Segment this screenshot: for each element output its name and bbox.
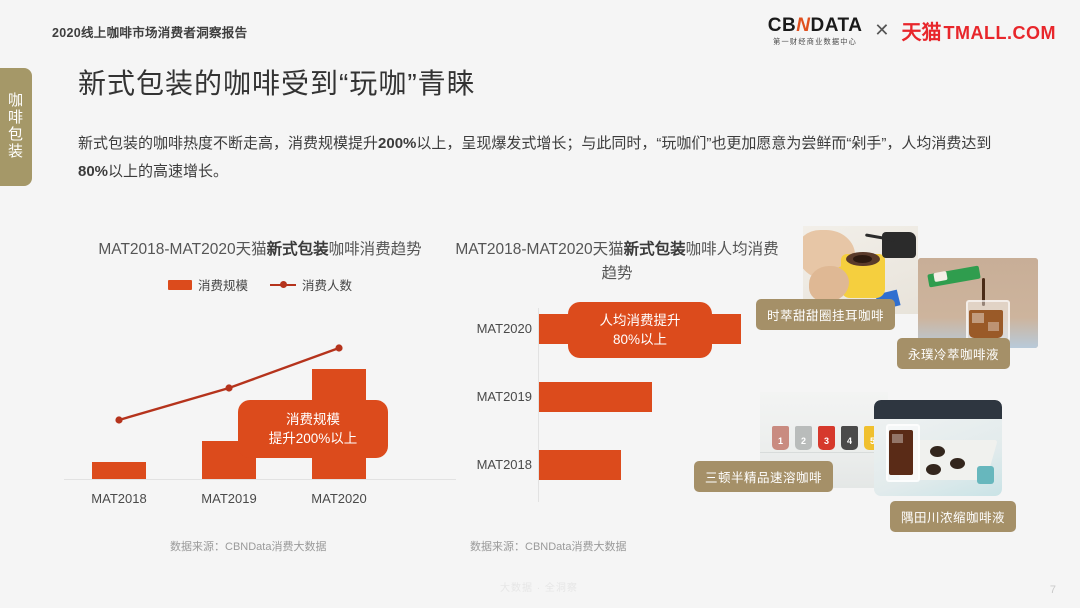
product-label-santonban: 三顿半精品速溶咖啡: [694, 461, 833, 492]
body-highlight-80: 80%: [78, 163, 108, 180]
cup-2: 2: [795, 426, 812, 450]
y-tick-mat2019: MAT2019: [452, 389, 532, 404]
chart-left-title: MAT2018-MAT2020天猫新式包装咖啡消费趋势: [60, 238, 460, 262]
product-label-sumidagawa: 隅田川浓缩咖啡液: [890, 501, 1016, 532]
callout-per-capita: 人均消费提升 80%以上: [568, 302, 712, 358]
photo4-teal-object: [977, 466, 994, 484]
callout-right-line1: 人均消费提升: [600, 311, 681, 330]
footer-watermark: 大数据 · 全洞察: [500, 579, 578, 594]
chart-consumption-scale: MAT2018-MAT2020天猫新式包装咖啡消费趋势 消费规模 消费人数: [60, 238, 460, 528]
chart-left-source: 数据来源：CBNData消费大数据: [170, 538, 326, 554]
body-text-part3: 以上的高速增长。: [108, 163, 228, 180]
legend-line-swatch-icon: [270, 280, 296, 290]
photo4-dark-band: [874, 400, 1002, 419]
photo1-brew-liquid: [853, 255, 872, 263]
product-photo-cold-brew-stick: [918, 258, 1038, 348]
chart-left-legend: 消费规模 消费人数: [60, 275, 460, 294]
photo2-ice-cube-2: [988, 322, 999, 331]
body-highlight-200: 200%: [378, 135, 416, 152]
photo4-capsule-1: [930, 446, 945, 457]
product-label-yongpu: 永璞冷萃咖啡液: [897, 338, 1010, 369]
legend-line-label: 消费人数: [302, 275, 352, 294]
product-label-shicui: 时萃甜甜圈挂耳咖啡: [756, 299, 895, 330]
cup-3: 3: [818, 426, 835, 450]
photo4-ice-cube: [892, 434, 903, 443]
photo4-capsule-2: [950, 458, 965, 469]
photo2-ice-cube-1: [972, 313, 984, 323]
callout-left-line1: 消费规模: [286, 410, 340, 429]
body-text-part2: 以上，呈现爆发式增长；与此同时，“玩咖们”也更加愿意为尝鲜而“剁手”，人均消费达…: [416, 135, 991, 152]
callout-right-line2: 80%以上: [613, 330, 667, 349]
legend-item-line: 消费人数: [270, 275, 352, 294]
cross-icon: ✕: [874, 20, 889, 41]
page-number: 7: [1050, 584, 1056, 596]
photo1-kettle: [882, 232, 916, 258]
cbndata-text-x: N: [796, 16, 810, 35]
cup-1: 1: [772, 426, 789, 450]
cbndata-subtitle: 第一财经商业数据中心: [773, 38, 857, 45]
hbar-mat2019: [539, 382, 652, 412]
chart-right-source: 数据来源：CBNData消费大数据: [470, 538, 626, 554]
chart-right-title-a: MAT2018-MAT2020天猫: [455, 241, 623, 258]
y-tick-mat2018: MAT2018: [452, 457, 532, 472]
page-title: 新式包装的咖啡受到“玩咖”青睐: [78, 62, 476, 102]
slide-canvas: 2020线上咖啡市场消费者洞察报告 CBNDATA 第一财经商业数据中心 ✕ 天…: [0, 0, 1080, 608]
photo4-capsule-3: [926, 464, 941, 475]
cbndata-text-a: CB: [768, 16, 796, 35]
callout-consumption-scale: 消费规模 提升200%以上: [238, 400, 388, 458]
chart-left-title-a: MAT2018-MAT2020天猫: [98, 241, 266, 258]
cup-4: 4: [841, 426, 858, 450]
y-tick-mat2020: MAT2020: [452, 321, 532, 336]
chart-left-title-b: 咖啡消费趋势: [329, 241, 422, 258]
chart-right-title: MAT2018-MAT2020天猫新式包装咖啡人均消费趋势: [452, 238, 782, 286]
section-tab-label: 咖啡包装: [8, 93, 24, 160]
logo-group: CBNDATA 第一财经商业数据中心 ✕ 天猫 TMALL.COM: [768, 16, 1056, 45]
tmall-cn-text: 天猫: [902, 16, 942, 45]
cbndata-text-b: DATA: [810, 16, 862, 35]
tmall-en-text: TMALL.COM: [944, 23, 1056, 44]
x-tick-mat2018: MAT2018: [74, 491, 164, 506]
callout-left-line2: 提升200%以上: [269, 429, 358, 448]
body-paragraph: 新式包装的咖啡热度不断走高，消费规模提升200%以上，呈现爆发式增长；与此同时，…: [78, 130, 1008, 186]
body-text-part1: 新式包装的咖啡热度不断走高，消费规模提升: [78, 135, 378, 152]
chart-left-title-bold: 新式包装: [267, 241, 329, 258]
hbar-mat2018: [539, 450, 621, 480]
product-photo-concentrate-tray: [874, 400, 1002, 496]
legend-bar-label: 消费规模: [198, 275, 248, 294]
report-header-title: 2020线上咖啡市场消费者洞察报告: [52, 22, 247, 41]
legend-item-bar: 消费规模: [168, 275, 248, 294]
section-tab-coffee-packaging[interactable]: 咖啡包装: [0, 68, 32, 186]
chart-right-title-bold: 新式包装: [624, 241, 686, 258]
x-tick-mat2020: MAT2020: [294, 491, 384, 506]
cbndata-logo: CBNDATA 第一财经商业数据中心: [768, 16, 863, 45]
x-tick-mat2019: MAT2019: [184, 491, 274, 506]
photo3-shelf-line: [760, 452, 888, 453]
legend-bar-swatch-icon: [168, 280, 192, 290]
tmall-logo: 天猫 TMALL.COM: [902, 16, 1056, 45]
chart-left-plot: 消费规模 提升200%以上 MAT2018 MAT2019 MAT2020: [60, 310, 460, 480]
cbndata-wordmark: CBNDATA: [768, 16, 863, 35]
